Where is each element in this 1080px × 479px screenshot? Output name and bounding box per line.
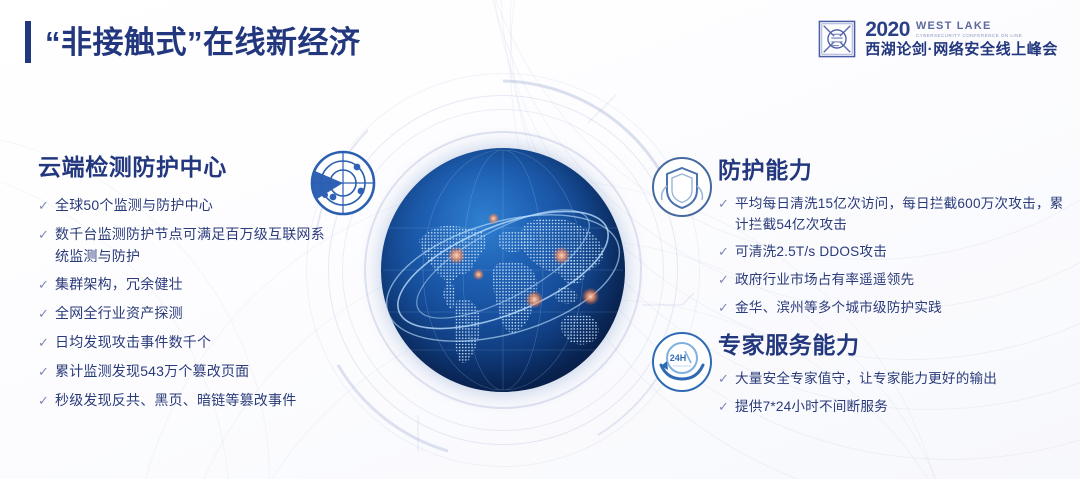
bullet-list: ✓ 大量安全专家值守，让专家能力更好的输出 ✓ 提供7*24小时不间断服务 <box>718 368 1070 418</box>
list-item-text: 政府行业市场占有率遥遥领先 <box>735 269 914 290</box>
bullet-list: ✓ 平均每日清洗15亿次访问，每日拦截600万次攻击，累计拦截54亿次攻击 ✓ … <box>718 193 1070 319</box>
slide-root: “非接触式”在线新经济 2020 WEST LAKE CYBERSECURITY… <box>0 0 1080 479</box>
globe-hotspot <box>488 213 499 224</box>
list-item-text: 集群架构，冗余健壮 <box>55 274 183 296</box>
globe-sphere <box>381 148 625 392</box>
list-item: ✓ 金华、滨州等多个城市级防护实践 <box>718 297 1070 319</box>
list-item: ✓ 全球50个监测与防护中心 <box>38 195 330 217</box>
logo-chinese: 西湖论剑·网络安全线上峰会 <box>865 42 1058 58</box>
check-icon: ✓ <box>718 193 735 215</box>
globe-hotspot <box>526 291 543 308</box>
check-icon: ✓ <box>38 224 55 246</box>
list-item-text: 数千台监测防护节点可满足百万级互联网系统监测与防护 <box>55 224 330 267</box>
list-item: ✓ 数千台监测防护节点可满足百万级互联网系统监测与防护 <box>38 224 330 267</box>
list-item-text: 提供7*24小时不间断服务 <box>735 396 888 417</box>
globe-hotspot <box>448 247 465 264</box>
check-icon: ✓ <box>718 241 735 263</box>
check-icon: ✓ <box>38 274 55 296</box>
check-icon: ✓ <box>718 396 735 418</box>
list-item: ✓ 集群架构，冗余健壮 <box>38 274 330 296</box>
24h-service-icon: 24H <box>647 327 717 402</box>
list-item: ✓ 大量安全专家值守，让专家能力更好的输出 <box>718 368 1070 390</box>
check-icon: ✓ <box>38 303 55 325</box>
check-icon: ✓ <box>38 195 55 217</box>
section-protection-capability: 防护能力 ✓ 平均每日清洗15亿次访问，每日拦截600万次攻击，累计拦截54亿次… <box>718 158 1070 325</box>
world-globe-graphic <box>328 95 678 445</box>
list-item-text: 金华、滨州等多个城市级防护实践 <box>735 297 942 318</box>
crossed-swords-emblem-icon <box>818 20 856 58</box>
page-title: “非接触式”在线新经济 <box>25 18 361 66</box>
list-item-text: 平均每日清洗15亿次访问，每日拦截600万次攻击，累计拦截54亿次攻击 <box>735 193 1070 235</box>
list-item-text: 大量安全专家值守，让专家能力更好的输出 <box>735 368 997 389</box>
check-icon: ✓ <box>718 368 735 390</box>
title-accent-bar <box>25 21 31 63</box>
check-icon: ✓ <box>718 269 735 291</box>
list-item-text: 累计监测发现543万个篡改页面 <box>55 361 249 383</box>
list-item-text: 全网全行业资产探测 <box>55 303 183 325</box>
list-item-text: 日均发现攻击事件数千个 <box>55 332 211 354</box>
section-cloud-detection: 云端检测防护中心 ✓ 全球50个监测与防护中心 ✓ 数千台监测防护节点可满足百万… <box>38 155 330 418</box>
list-item: ✓ 累计监测发现543万个篡改页面 <box>38 361 330 383</box>
list-item: ✓ 日均发现攻击事件数千个 <box>38 332 330 354</box>
list-item-text: 全球50个监测与防护中心 <box>55 195 213 217</box>
section-heading: 云端检测防护中心 <box>38 155 330 180</box>
list-item-text: 可清洗2.5T/s DDOS攻击 <box>735 241 887 262</box>
list-item: ✓ 全网全行业资产探测 <box>38 303 330 325</box>
check-icon: ✓ <box>38 390 55 412</box>
section-expert-service: 专家服务能力 ✓ 大量安全专家值守，让专家能力更好的输出 ✓ 提供7*24小时不… <box>718 333 1070 424</box>
globe-hotspot <box>553 247 570 264</box>
globe-orbit-rings <box>381 148 625 392</box>
logo-year: 2020 <box>865 20 910 40</box>
list-item: ✓ 平均每日清洗15亿次访问，每日拦截600万次攻击，累计拦截54亿次攻击 <box>718 193 1070 235</box>
bullet-list: ✓ 全球50个监测与防护中心 ✓ 数千台监测防护节点可满足百万级互联网系统监测与… <box>38 195 330 411</box>
section-heading: 专家服务能力 <box>718 333 1070 358</box>
list-item: ✓ 可清洗2.5T/s DDOS攻击 <box>718 241 1070 263</box>
check-icon: ✓ <box>38 332 55 354</box>
title-text: “非接触式”在线新经济 <box>45 27 361 58</box>
section-heading: 防护能力 <box>718 158 1070 183</box>
check-icon: ✓ <box>38 361 55 383</box>
logo-english-main: WEST LAKE <box>916 21 1022 33</box>
list-item: ✓ 秒级发现反共、黑页、暗链等篡改事件 <box>38 390 330 412</box>
conference-logo: 2020 WEST LAKE CYBERSECURITY CONFERENCE … <box>818 20 1058 58</box>
logo-english-sub: CYBERSECURITY CONFERENCE ON LINE <box>916 33 1022 39</box>
list-item: ✓ 政府行业市场占有率遥遥领先 <box>718 269 1070 291</box>
list-item-text: 秒级发现反共、黑页、暗链等篡改事件 <box>55 390 296 412</box>
logo-text-block: 2020 WEST LAKE CYBERSECURITY CONFERENCE … <box>865 20 1058 58</box>
shield-icon <box>647 152 717 227</box>
list-item: ✓ 提供7*24小时不间断服务 <box>718 396 1070 418</box>
check-icon: ✓ <box>718 297 735 319</box>
svg-text:24H: 24H <box>670 353 687 363</box>
